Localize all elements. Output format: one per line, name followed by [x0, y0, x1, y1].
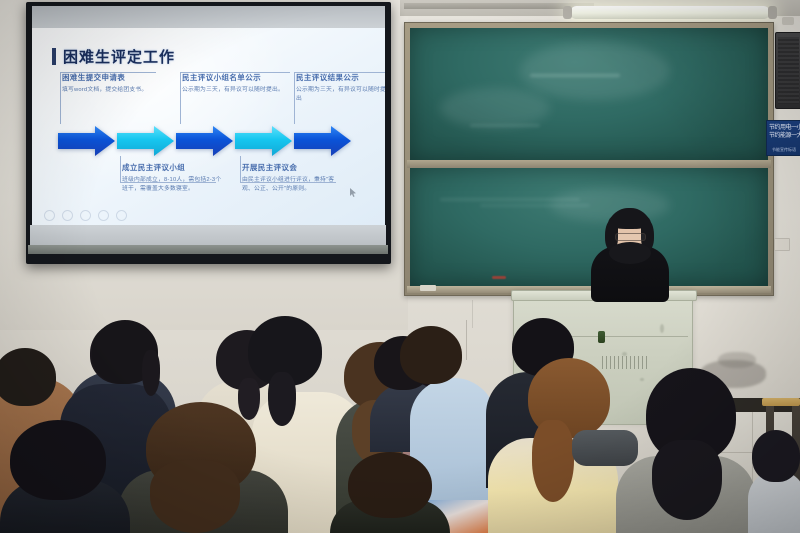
process-arrow-1: [58, 126, 115, 156]
step-block-4: 开展民主评议会 由民主评议小组进行评议，秉持"客观、公正、公开"的原则。: [242, 162, 342, 193]
audience-head: [400, 326, 462, 384]
step-body: 公示期为三天，有异议可以随时提出: [296, 86, 385, 103]
wall-crack: [472, 300, 473, 328]
audience-hair-down: [532, 420, 574, 502]
power-outlet[interactable]: [774, 238, 790, 251]
projection-screen-roller: [28, 245, 388, 254]
classroom-scene: 节约用电一小步 节约能源一大步 节能宣传标语 困难生评定工作 困难生提交申请表 …: [0, 0, 800, 533]
sign-line-2: 节约能源一大步: [767, 132, 800, 140]
desk-top-right: [762, 398, 800, 406]
step-body: 由民主评议小组进行评议，秉持"客观、公正、公开"的原则。: [242, 176, 342, 193]
energy-saving-sign: 节约用电一小步 节约能源一大步 节能宣传标语: [766, 120, 800, 156]
speaker-grill-icon: [778, 37, 799, 104]
step-heading: 开展民主评议会: [242, 162, 342, 173]
mouse-cursor-icon: [350, 188, 356, 197]
sign-subtext: 节能宣传标语: [767, 147, 800, 153]
projected-slide: 困难生评定工作 困难生提交申请表 填写word文档，提交给团支书。 民主评议小组…: [32, 28, 385, 225]
title-accent-bar: [52, 48, 56, 65]
step-heading: 民主评议结果公示: [296, 72, 385, 83]
chalk-smudge: [440, 88, 550, 128]
connector-line: [294, 72, 295, 124]
process-arrows: [58, 126, 351, 156]
step-body: 填写word文档，提交给团支书。: [62, 86, 156, 95]
connector-line: [240, 156, 241, 182]
presenter-collar: [609, 242, 651, 264]
pen-icon[interactable]: [80, 210, 91, 221]
sign-line-1: 节约用电一小步: [767, 121, 800, 132]
podium-stain: [622, 352, 627, 356]
next-slide-icon[interactable]: [62, 210, 73, 221]
fluorescent-light: [570, 6, 770, 19]
step-block-1: 困难生提交申请表 填写word文档，提交给团支书。: [62, 72, 156, 95]
step-heading: 民主评议小组名单公示: [182, 72, 290, 83]
audience-hair-down: [652, 440, 722, 520]
audience-ponytail: [142, 350, 160, 396]
more-options-icon[interactable]: [116, 210, 127, 221]
presenter: [587, 208, 673, 300]
red-chalk-mark: [492, 276, 506, 279]
chalk-streak: [470, 124, 540, 127]
wall-crack: [466, 320, 467, 360]
step-heading: 困难生提交申请表: [62, 72, 156, 83]
light-cap-left: [563, 6, 572, 19]
audience-head: [752, 430, 800, 482]
prev-slide-icon[interactable]: [44, 210, 55, 221]
process-arrow-3: [176, 126, 233, 156]
presentation-toolbar[interactable]: [44, 210, 127, 221]
slide-title: 困难生评定工作: [63, 46, 175, 67]
audience-head: [348, 452, 432, 518]
connector-line-top: [180, 72, 290, 73]
slide-overview-icon[interactable]: [98, 210, 109, 221]
projection-screen-bottom-bar: [30, 225, 386, 247]
chalkboard-divider: [407, 160, 771, 168]
connector-line: [180, 72, 181, 124]
process-arrow-4: [235, 126, 292, 156]
audience-ponytail: [268, 372, 296, 426]
step-body: 公示期为三天，有异议可以随时提出。: [182, 86, 290, 95]
audience-head: [10, 420, 106, 500]
podium-stain: [640, 378, 644, 381]
step-block-5: 民主评议结果公示 公示期为三天，有异议可以随时提出: [296, 72, 385, 103]
glasses-icon: [615, 233, 646, 241]
connector-line-top: [60, 72, 156, 73]
step-heading: 成立民主评议小组: [122, 162, 222, 173]
slide-title-row: 困难生评定工作: [52, 46, 175, 67]
process-arrow-2: [117, 126, 174, 156]
chalk-smudge: [520, 42, 670, 100]
process-arrow-5: [294, 126, 351, 156]
audience-scarf: [572, 430, 638, 466]
audience-hair-down: [150, 460, 240, 533]
board-eraser: [420, 285, 436, 291]
step-body: 班级内部成立，8-10人，需包括2-3个班干，需覆盖大多数寝室。: [122, 176, 222, 193]
connector-line: [60, 72, 61, 124]
ventilation-slots: [602, 356, 650, 369]
step-block-3: 民主评议小组名单公示 公示期为三天，有异议可以随时提出。: [182, 72, 290, 95]
padlock-icon[interactable]: [598, 331, 605, 343]
step-block-2: 成立民主评议小组 班级内部成立，8-10人，需包括2-3个班干，需覆盖大多数寝室…: [122, 162, 222, 193]
connector-line-top: [294, 72, 385, 73]
light-cap-right: [768, 6, 777, 19]
chalkboard-upper-panel: [410, 28, 768, 160]
audience-head: [0, 348, 56, 406]
connector-line: [120, 156, 121, 182]
chalk-streak: [530, 74, 620, 77]
wall-peel-patch: [718, 352, 756, 368]
podium-stain: [660, 324, 664, 333]
wall-sensor: [782, 17, 794, 25]
wall-speaker: [775, 32, 800, 109]
